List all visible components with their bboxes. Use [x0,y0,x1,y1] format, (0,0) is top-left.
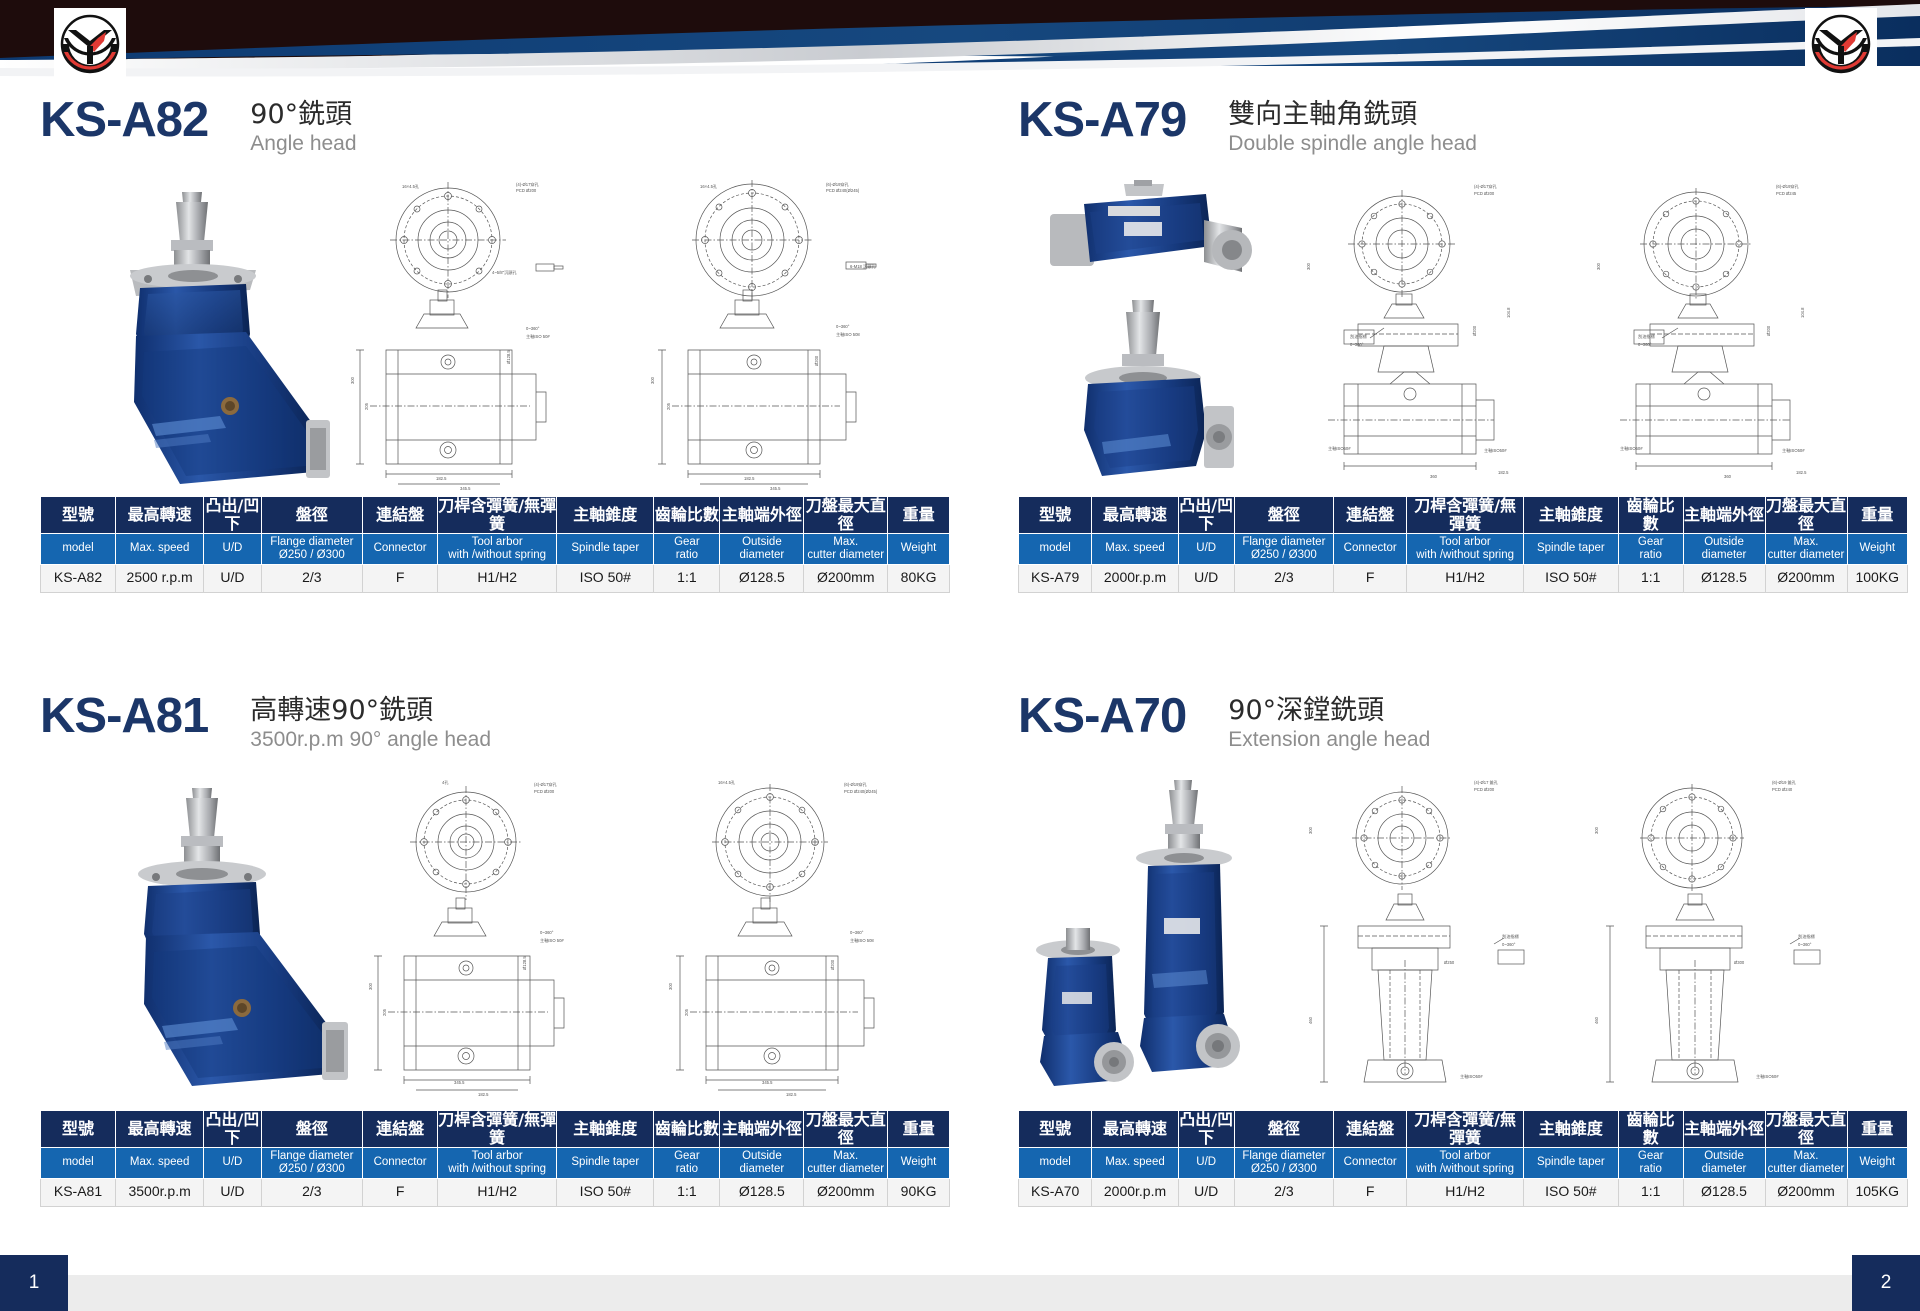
svg-text:345.5: 345.5 [770,486,781,491]
svg-text:300: 300 [668,982,673,990]
svg-text:16×4.5孔: 16×4.5孔 [402,183,420,190]
th-en-gear: Gearratio [1618,533,1683,564]
svg-text:PCD Ø200: PCD Ø200 [1474,191,1495,196]
svg-text:主軸ISO50#: 主軸ISO50# [1782,447,1805,454]
th-cn-taper: 主軸錐度 [1523,497,1618,534]
th-cn-arbor: 刀桿含彈簧/無彈簧 [438,497,557,534]
svg-text:PCD Ø200: PCD Ø200 [516,188,537,193]
product-photo [100,782,350,1092]
table-row: KS-A79 2000r.p.m U/D 2/3 F H1/H2 ISO 50#… [1019,564,1908,592]
product-model-code: KS-A79 [1018,96,1186,145]
th-en-flange: Flange diameterØ250 / Ø300 [261,1147,362,1178]
svg-text:460: 460 [1308,1016,1313,1024]
cell-out: Ø128.5 [1683,1178,1765,1206]
svg-text:Ø200: Ø200 [1472,325,1477,336]
th-cn-flange: 盤徑 [261,497,362,534]
th-en-gear: Gearratio [654,1147,720,1178]
cell-flange: 2/3 [261,564,362,592]
product-block-ks-a70: KS-A70 90°深鏜銑頭 Extension angle head [1018,692,1908,1207]
th-en-gear: Gearratio [654,533,720,564]
cell-out: Ø128.5 [720,1178,804,1206]
th-cn-arbor: 刀桿含彈簧/無彈簧 [1407,1111,1524,1148]
product-title-en: Double spindle angle head [1228,131,1477,156]
svg-text:104.8: 104.8 [1800,307,1805,318]
svg-text:300: 300 [368,982,373,990]
th-en-taper: Spindle taper [1523,533,1618,564]
svg-text:PCD Ø240: PCD Ø240 [1772,787,1793,792]
svg-text:PCD Ø245: PCD Ø245 [1776,191,1797,196]
product-model-code: KS-A70 [1018,692,1186,741]
svg-text:205: 205 [684,1008,689,1016]
th-cn-out: 主軸端外徑 [1683,1111,1765,1148]
product-title-cn: 高轉速90°銑頭 [250,695,491,726]
th-cn-taper: 主軸錐度 [557,497,654,534]
svg-text:16×4.5孔: 16×4.5孔 [700,183,718,190]
th-cn-arbor: 刀桿含彈簧/無彈簧 [1407,497,1524,534]
cell-taper: ISO 50# [1523,1178,1618,1206]
footer-bar [0,1275,1920,1311]
svg-text:460: 460 [1594,1016,1599,1024]
th-cn-gear: 齒輪比數 [1618,1111,1683,1148]
th-cn-speed: 最高轉速 [1092,497,1178,534]
th-en-out: Outsidediameter [1683,533,1765,564]
svg-text:(6)-Ø19 錐孔: (6)-Ø19 錐孔 [1772,779,1797,786]
table-header-row-cn: 型號 最高轉速 凸出/凹下 盤徑 連結盤 刀桿含彈簧/無彈簧 主軸錐度 齒輪比數… [1019,497,1908,534]
product-model-code: KS-A81 [40,692,208,741]
cell-speed: 2000r.p.m [1092,564,1178,592]
th-en-cut: Max.cutter diameter [804,1147,888,1178]
th-en-weight: Weight [1847,533,1908,564]
svg-text:300: 300 [650,376,655,384]
svg-text:PCD Ø240(Ø245): PCD Ø240(Ø245) [826,188,860,193]
th-cn-ud: 凸出/凹下 [1178,497,1234,534]
svg-text:0~360°: 0~360° [850,930,864,935]
technical-drawing-top-right: (6)-Ø19 錐孔 PCD Ø240 300 刮油指標 0~360° Ø300… [1584,774,1884,1104]
cell-model: KS-A70 [1019,1178,1092,1206]
svg-text:(4)-Ø17穿孔: (4)-Ø17穿孔 [516,181,540,188]
th-en-out: Outsidediameter [720,533,804,564]
svg-text:主軸ISO 508: 主軸ISO 508 [836,331,860,338]
svg-text:主軸ISO50#: 主軸ISO50# [1756,1073,1779,1080]
cell-arbor: H1/H2 [438,564,557,592]
th-cn-arbor: 刀桿含彈簧/無彈簧 [438,1111,557,1148]
page-number-left: 1 [0,1255,68,1311]
th-cn-conn: 連結盤 [363,497,438,534]
cell-arbor: H1/H2 [1407,564,1524,592]
product-heading: KS-A79 雙向主軸角銑頭 Double spindle angle head [1018,96,1908,164]
th-cn-model: 型號 [1019,497,1092,534]
cell-flange: 2/3 [1234,564,1333,592]
th-en-ud: U/D [204,533,261,564]
product-illustration-area: (4)-Ø17穿孔 PCD Ø200 300 刮油指標 0~360° 主軸ISO… [1018,174,1908,496]
th-en-flange: Flange diameterØ250 / Ø300 [1234,1147,1333,1178]
product-illustration-area: (4)-Ø17 錐孔 PCD Ø200 300 刮油指標 0~360° Ø250… [1018,770,1908,1110]
cell-model: KS-A79 [1019,564,1092,592]
th-en-speed: Max. speed [1092,533,1178,564]
svg-text:(6)-Ø19穿孔: (6)-Ø19穿孔 [826,181,850,188]
svg-text:Ø250: Ø250 [1444,960,1455,965]
th-en-taper: Spindle taper [1523,1147,1618,1178]
svg-text:345.5: 345.5 [460,486,471,491]
th-en-cut: Max.cutter diameter [1765,533,1847,564]
th-cn-ud: 凸出/凹下 [204,497,261,534]
product-illustration-area: 4孔 (4)-Ø17穿孔 PCD Ø200 182.5 345.5 300 20… [40,770,950,1110]
table-header-row-en: model Max. speed U/D Flange diameterØ250… [1019,533,1908,564]
cell-conn: F [1334,564,1407,592]
spec-table-ks-a82: 型號 最高轉速 凸出/凹下 盤徑 連結盤 刀桿含彈簧/無彈簧 主軸錐度 齒輪比數… [40,496,950,593]
svg-text:主軸ISO 508: 主軸ISO 508 [850,937,874,944]
svg-text:主軸ISO50#: 主軸ISO50# [1620,445,1643,452]
cell-flange: 2/3 [261,1178,362,1206]
th-en-out: Outsidediameter [720,1147,804,1178]
svg-text:4孔: 4孔 [442,779,449,786]
svg-text:Ø200: Ø200 [1766,325,1771,336]
th-en-arbor: Tool arborwith /without spring [438,533,557,564]
technical-drawing-top-right: 16×4.5孔 (6)-Ø19穿孔 PCD Ø240(Ø245) 182.5 3… [658,774,953,1104]
th-en-taper: Spindle taper [557,1147,654,1178]
th-cn-weight: 重量 [1847,1111,1908,1148]
svg-text:(4)-Ø17穿孔: (4)-Ø17穿孔 [1474,183,1498,190]
svg-text:主軸ISO50#: 主軸ISO50# [1328,445,1351,452]
th-cn-speed: 最高轉速 [116,497,204,534]
svg-text:300: 300 [350,376,355,384]
cell-flange: 2/3 [1234,1178,1333,1206]
svg-text:PCD Ø200: PCD Ø200 [1474,787,1495,792]
product-photo [70,184,330,484]
svg-text:Ø128.5: Ø128.5 [522,956,527,970]
cell-model: KS-A82 [41,564,116,592]
cell-gear: 1:1 [1618,1178,1683,1206]
cell-taper: ISO 50# [1523,564,1618,592]
technical-drawing-top-left: (4)-Ø17 錐孔 PCD Ø200 300 刮油指標 0~360° Ø250… [1298,774,1588,1104]
cell-cut: Ø200mm [1765,564,1847,592]
th-en-ud: U/D [1178,533,1234,564]
cell-conn: F [1334,1178,1407,1206]
cell-cut: Ø200mm [804,1178,888,1206]
product-model-code: KS-A82 [40,96,208,145]
product-heading: KS-A81 高轉速90°銑頭 3500r.p.m 90° angle head [40,692,950,760]
th-cn-conn: 連結盤 [1334,497,1407,534]
th-cn-conn: 連結盤 [1334,1111,1407,1148]
svg-text:Ø300: Ø300 [1734,960,1745,965]
product-heading: KS-A70 90°深鏜銑頭 Extension angle head [1018,692,1908,760]
spec-table-ks-a81: 型號 最高轉速 凸出/凹下 盤徑 連結盤 刀桿含彈簧/無彈簧 主軸錐度 齒輪比數… [40,1110,950,1207]
technical-drawing-top-left: 16×4.5孔 (4)-Ø17穿孔 PCD Ø200 4~5/8"沉頭孔 345… [340,178,625,494]
svg-text:0~360°: 0~360° [526,326,540,331]
th-cn-out: 主軸端外徑 [720,497,804,534]
th-en-weight: Weight [1847,1147,1908,1178]
th-cn-flange: 盤徑 [1234,497,1333,534]
cell-speed: 3500r.p.m [116,1178,204,1206]
cell-gear: 1:1 [654,1178,720,1206]
th-en-model: model [1019,1147,1092,1178]
company-logo-right [1805,8,1877,80]
th-cn-conn: 連結盤 [363,1111,438,1148]
cell-gear: 1:1 [1618,564,1683,592]
th-en-weight: Weight [888,1147,950,1178]
table-row: KS-A70 2000r.p.m U/D 2/3 F H1/H2 ISO 50#… [1019,1178,1908,1206]
th-cn-cut: 刀盤最大直徑 [804,1111,888,1148]
cell-taper: ISO 50# [557,1178,654,1206]
svg-text:PCD Ø200: PCD Ø200 [534,789,555,794]
th-en-ud: U/D [204,1147,261,1178]
product-photo [1028,180,1288,490]
product-title-en: Extension angle head [1228,727,1430,752]
page-number-right: 2 [1852,1255,1920,1311]
cell-model: KS-A81 [41,1178,116,1206]
th-en-speed: Max. speed [116,1147,204,1178]
svg-text:(4)-Ø17穿孔: (4)-Ø17穿孔 [534,781,558,788]
th-cn-flange: 盤徑 [1234,1111,1333,1148]
th-en-conn: Connector [363,1147,438,1178]
svg-text:Ø200: Ø200 [830,959,835,970]
th-cn-cut: 刀盤最大直徑 [804,497,888,534]
svg-text:刮油指標: 刮油指標 [1502,933,1520,940]
th-cn-taper: 主軸錐度 [557,1111,654,1148]
product-photo [1028,778,1278,1094]
spec-table-ks-a70: 型號 最高轉速 凸出/凹下 盤徑 連結盤 刀桿含彈簧/無彈簧 主軸錐度 齒輪比數… [1018,1110,1908,1207]
th-cn-gear: 齒輪比數 [654,497,720,534]
svg-text:205: 205 [666,402,671,410]
table-header-row-en: model Max. speed U/D Flange diameterØ250… [1019,1147,1908,1178]
technical-drawing-top-left: 4孔 (4)-Ø17穿孔 PCD Ø200 182.5 345.5 300 20… [358,774,643,1104]
svg-text:主軸ISO50#: 主軸ISO50# [1484,447,1507,454]
svg-text:(6)-Ø19穿孔: (6)-Ø19穿孔 [1776,183,1800,190]
table-header-row-cn: 型號 最高轉速 凸出/凹下 盤徑 連結盤 刀桿含彈簧/無彈簧 主軸錐度 齒輪比數… [41,497,950,534]
product-title-en: Angle head [250,131,356,156]
cell-ud: U/D [204,564,261,592]
th-cn-out: 主軸端外徑 [1683,497,1765,534]
cell-out: Ø128.5 [720,564,804,592]
th-cn-weight: 重量 [888,497,950,534]
technical-drawing-top-left: (4)-Ø17穿孔 PCD Ø200 300 刮油指標 0~360° 主軸ISO… [1298,178,1588,494]
svg-text:4~5/8"沉頭孔: 4~5/8"沉頭孔 [492,269,517,276]
svg-text:0~360°: 0~360° [1502,942,1516,947]
technical-drawing-top-right: 16×4.5孔 (6)-Ø19穿孔 PCD Ø240(Ø245) 6-M18 沉… [640,178,940,494]
th-cn-gear: 齒輪比數 [654,1111,720,1148]
cell-arbor: H1/H2 [1407,1178,1524,1206]
th-en-flange: Flange diameterØ250 / Ø300 [261,533,362,564]
spec-table-ks-a79: 型號 最高轉速 凸出/凹下 盤徑 連結盤 刀桿含彈簧/無彈簧 主軸錐度 齒輪比數… [1018,496,1908,593]
th-cn-cut: 刀盤最大直徑 [1765,497,1847,534]
th-en-model: model [1019,533,1092,564]
svg-text:刮油指標: 刮油指標 [1798,933,1816,940]
svg-text:主軸ISO50#: 主軸ISO50# [1460,1073,1483,1080]
cell-conn: F [363,564,438,592]
th-cn-gear: 齒輪比數 [1618,497,1683,534]
th-en-conn: Connector [1334,533,1407,564]
th-en-cut: Max.cutter diameter [804,533,888,564]
svg-text:PCD Ø240(Ø245): PCD Ø240(Ø245) [844,789,878,794]
svg-text:360: 360 [1724,474,1732,479]
svg-text:205: 205 [382,1008,387,1016]
cell-speed: 2000r.p.m [1092,1178,1178,1206]
th-en-gear: Gearratio [1618,1147,1683,1178]
svg-text:(4)-Ø17 錐孔: (4)-Ø17 錐孔 [1474,779,1499,786]
th-en-model: model [41,1147,116,1178]
svg-text:360: 360 [1430,474,1438,479]
th-cn-taper: 主軸錐度 [1523,1111,1618,1148]
svg-text:Ø128.5: Ø128.5 [506,350,511,364]
svg-text:182.5: 182.5 [786,1092,797,1097]
th-en-weight: Weight [888,533,950,564]
svg-text:(6)-Ø19穿孔: (6)-Ø19穿孔 [844,781,868,788]
th-en-model: model [41,533,116,564]
product-block-ks-a82: KS-A82 90°銑頭 Angle head [40,96,950,593]
table-row: KS-A82 2500 r.p.m U/D 2/3 F H1/H2 ISO 50… [41,564,950,592]
th-cn-flange: 盤徑 [261,1111,362,1148]
product-block-ks-a81: KS-A81 高轉速90°銑頭 3500r.p.m 90° angle head [40,692,950,1207]
product-title-cn: 90°銑頭 [250,99,356,130]
page-header-banner [0,0,1920,88]
th-cn-speed: 最高轉速 [116,1111,204,1148]
cell-weight: 90KG [888,1178,950,1206]
th-en-flange: Flange diameterØ250 / Ø300 [1234,533,1333,564]
product-title-en: 3500r.p.m 90° angle head [250,727,491,752]
th-cn-weight: 重量 [888,1111,950,1148]
cell-weight: 105KG [1847,1178,1908,1206]
company-logo-left [54,8,126,80]
product-title-cn: 雙向主軸角銑頭 [1228,99,1477,130]
cell-ud: U/D [1178,564,1234,592]
cell-ud: U/D [204,1178,261,1206]
svg-text:300: 300 [1596,262,1601,270]
cell-weight: 100KG [1847,564,1908,592]
cell-ud: U/D [1178,1178,1234,1206]
svg-text:0~360°: 0~360° [540,930,554,935]
svg-text:300: 300 [1594,826,1599,834]
cell-arbor: H1/H2 [438,1178,557,1206]
svg-text:182.5: 182.5 [744,476,755,481]
table-header-row-en: model Max. speed U/D Flange diameterØ250… [41,1147,950,1178]
th-en-cut: Max.cutter diameter [1765,1147,1847,1178]
cell-weight: 80KG [888,564,950,592]
th-cn-model: 型號 [41,1111,116,1148]
th-cn-out: 主軸端外徑 [720,1111,804,1148]
th-cn-speed: 最高轉速 [1092,1111,1178,1148]
th-cn-weight: 重量 [1847,497,1908,534]
product-heading: KS-A82 90°銑頭 Angle head [40,96,950,164]
th-en-ud: U/D [1178,1147,1234,1178]
svg-text:300: 300 [1308,826,1313,834]
svg-text:345.5: 345.5 [454,1080,465,1085]
th-en-taper: Spindle taper [557,533,654,564]
table-header-row-cn: 型號 最高轉速 凸出/凹下 盤徑 連結盤 刀桿含彈簧/無彈簧 主軸錐度 齒輪比數… [1019,1111,1908,1148]
th-cn-cut: 刀盤最大直徑 [1765,1111,1847,1148]
cell-cut: Ø200mm [804,564,888,592]
th-en-speed: Max. speed [1092,1147,1178,1178]
th-cn-model: 型號 [41,497,116,534]
svg-text:205: 205 [364,402,369,410]
svg-text:主軸ISO 50#: 主軸ISO 50# [526,333,550,340]
cell-cut: Ø200mm [1765,1178,1847,1206]
svg-text:0~360°: 0~360° [1798,942,1812,947]
cell-conn: F [363,1178,438,1206]
svg-text:Ø200: Ø200 [814,355,819,366]
th-en-arbor: Tool arborwith /without spring [438,1147,557,1178]
th-cn-model: 型號 [1019,1111,1092,1148]
svg-text:0~360°: 0~360° [836,324,850,329]
th-en-arbor: Tool arborwith /without spring [1407,1147,1524,1178]
table-header-row-cn: 型號 最高轉速 凸出/凹下 盤徑 連結盤 刀桿含彈簧/無彈簧 主軸錐度 齒輪比數… [41,1111,950,1148]
svg-text:182.5: 182.5 [478,1092,489,1097]
table-row: KS-A81 3500r.p.m U/D 2/3 F H1/H2 ISO 50#… [41,1178,950,1206]
svg-text:182.5: 182.5 [1498,470,1509,475]
cell-taper: ISO 50# [557,564,654,592]
svg-text:16×4.5孔: 16×4.5孔 [718,779,736,786]
svg-text:182.5: 182.5 [436,476,447,481]
th-en-out: Outsidediameter [1683,1147,1765,1178]
th-en-arbor: Tool arborwith /without spring [1407,533,1524,564]
technical-drawing-top-right: (6)-Ø19穿孔 PCD Ø245 300 刮油指標 0~360° 主軸ISO… [1588,178,1888,494]
svg-text:主軸ISO 50#: 主軸ISO 50# [540,937,564,944]
svg-text:300: 300 [1306,262,1311,270]
table-header-row-en: model Max. speed U/D Flange diameterØ250… [41,533,950,564]
svg-text:345.5: 345.5 [762,1080,773,1085]
th-en-conn: Connector [363,533,438,564]
cell-gear: 1:1 [654,564,720,592]
svg-text:182.5: 182.5 [1796,470,1807,475]
product-block-ks-a79: KS-A79 雙向主軸角銑頭 Double spindle angle head [1018,96,1908,593]
svg-text:104.8: 104.8 [1506,307,1511,318]
th-en-conn: Connector [1334,1147,1407,1178]
th-cn-ud: 凸出/凹下 [1178,1111,1234,1148]
cell-out: Ø128.5 [1683,564,1765,592]
product-title-cn: 90°深鏜銑頭 [1228,695,1430,726]
cell-speed: 2500 r.p.m [116,564,204,592]
product-illustration-area: 16×4.5孔 (4)-Ø17穿孔 PCD Ø200 4~5/8"沉頭孔 345… [40,174,950,496]
th-en-speed: Max. speed [116,533,204,564]
th-cn-ud: 凸出/凹下 [204,1111,261,1148]
